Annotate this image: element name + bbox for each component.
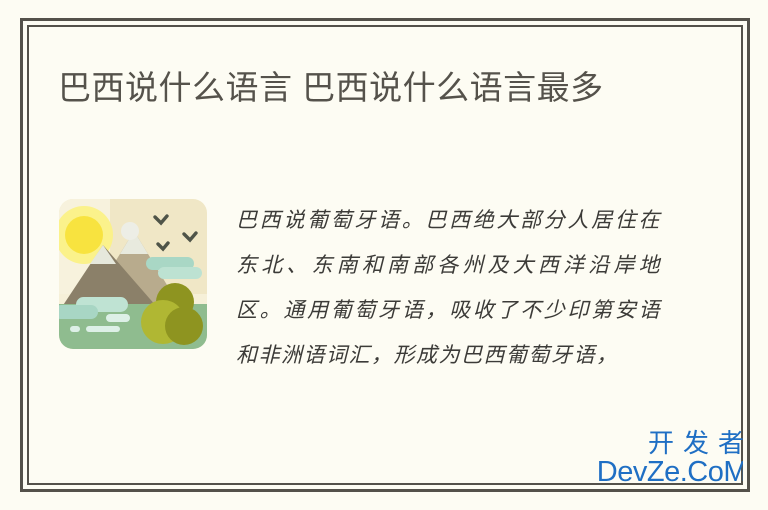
- page-title: 巴西说什么语言 巴西说什么语言最多: [58, 62, 698, 114]
- mountain-landscape-illustration: [58, 198, 208, 350]
- article-content: 巴西说什么语言 巴西说什么语言最多: [27, 25, 743, 485]
- watermark-en-text: DevZe.CoM: [597, 458, 743, 485]
- article-body-wrap: 巴西说葡萄牙语。巴西绝大部分人居住在东北、东南和南部各州及大西洋沿岸地区。通用葡…: [58, 198, 708, 458]
- article-paragraph: 巴西说葡萄牙语。巴西绝大部分人居住在东北、东南和南部各州及大西洋沿岸地区。通用葡…: [236, 198, 661, 378]
- page-root: 巴西说什么语言 巴西说什么语言最多: [0, 0, 768, 510]
